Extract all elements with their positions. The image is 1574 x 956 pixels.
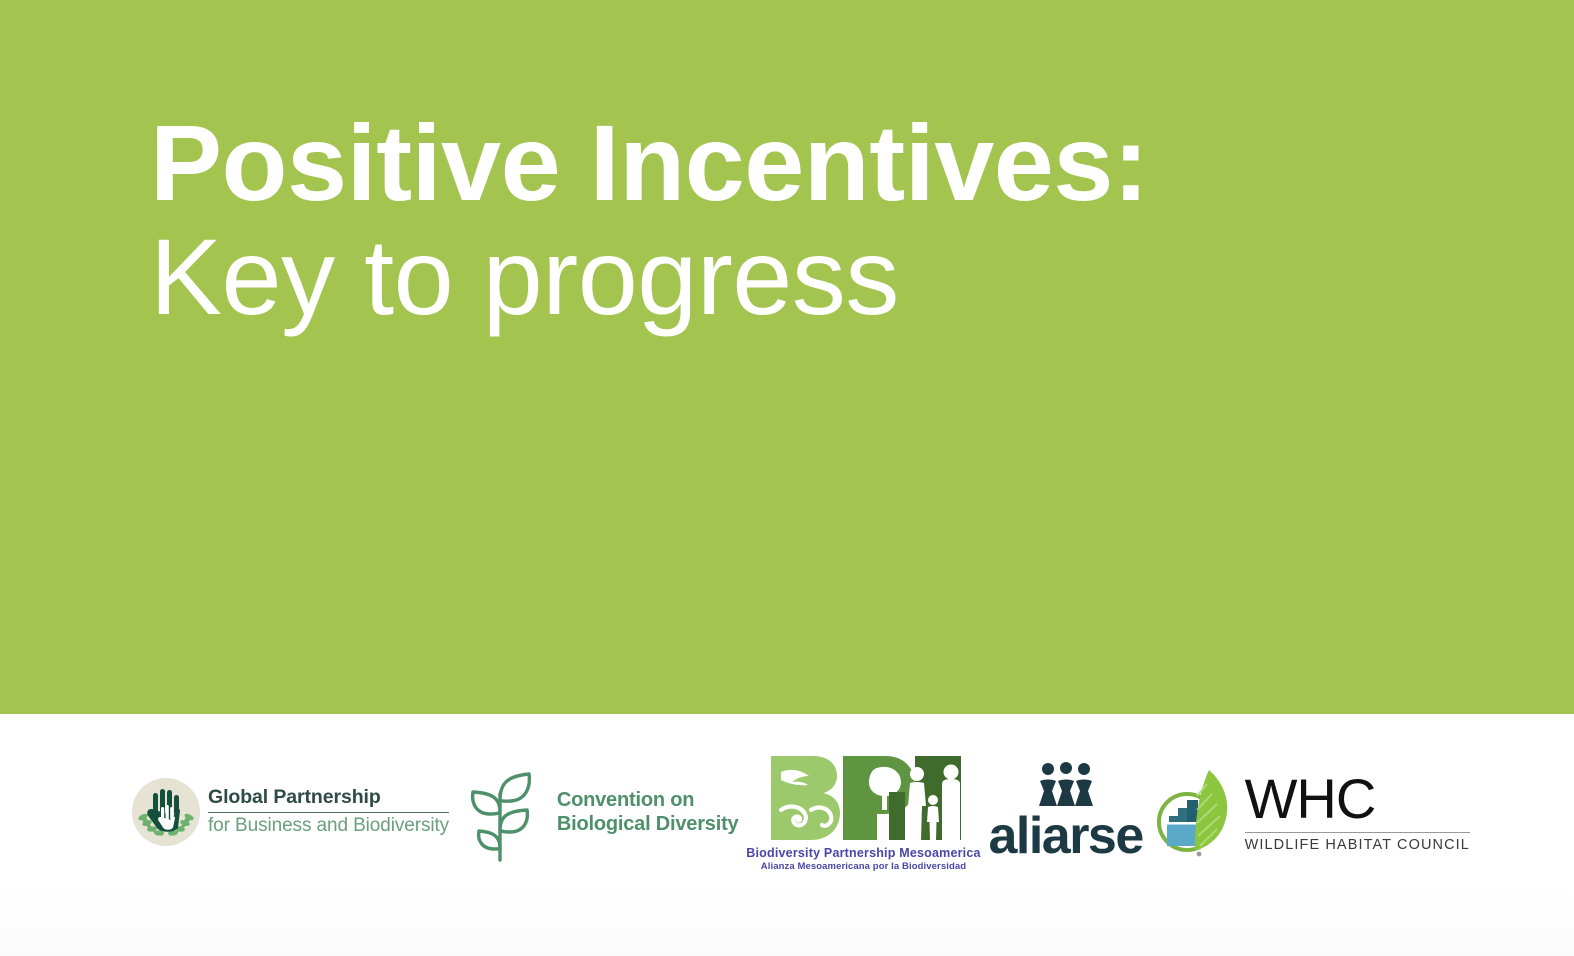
logo-gpbb-line-2: for Business and Biodiversity	[208, 816, 449, 837]
logo-cbd-line-2: Biological Diversity	[557, 812, 739, 836]
partner-logo-row: Global Partnership for Business and Biod…	[130, 742, 1470, 882]
logo-convention-on-biological-diversity: Convention on Biological Diversity	[457, 760, 739, 864]
logo-cbd-line-1: Convention on	[557, 788, 739, 812]
logo-global-partnership-business-biodiversity: Global Partnership for Business and Biod…	[130, 776, 449, 848]
logo-whc-tagline: WILDLIFE HABITAT COUNCIL	[1245, 837, 1470, 853]
logo-whc-divider	[1245, 832, 1470, 834]
leaf-droplet-buildings-icon	[1151, 766, 1235, 858]
logo-aliarse-wordmark: aliarse	[988, 812, 1142, 861]
logo-whc-wordmark: WHC	[1245, 771, 1470, 827]
logo-aliarse: aliarse	[988, 762, 1142, 861]
three-people-icon	[1034, 762, 1098, 810]
logo-cbd-text: Convention on Biological Diversity	[557, 788, 739, 837]
logo-bpm-line-2: Alianza Mesoamericana por la Biodiversid…	[761, 861, 966, 872]
slide-title-block: Positive Incentives: Key to progress	[150, 104, 1450, 338]
logo-biodiversity-partnership-mesoamerica: Biodiversity Partnership Mesoamerica Ali…	[746, 752, 980, 872]
logo-gpbb-line-1: Global Partnership	[208, 787, 449, 808]
slide-title-line-2: Key to progress	[150, 217, 1450, 338]
presentation-slide: Positive Incentives: Key to progress	[0, 0, 1574, 956]
logo-whc-text: WHC WILDLIFE HABITAT COUNCIL	[1245, 771, 1470, 854]
logo-gpbb-divider	[208, 812, 449, 814]
slide-title-line-1: Positive Incentives:	[150, 104, 1450, 223]
logo-global-partnership-text: Global Partnership for Business and Biod…	[208, 787, 449, 836]
leaf-plant-outline-icon	[457, 760, 543, 864]
logo-wildlife-habitat-council: WHC WILDLIFE HABITAT COUNCIL	[1151, 766, 1470, 858]
hand-laurel-circle-icon	[130, 776, 202, 848]
bpm-monogram-icon	[765, 752, 961, 844]
logo-bpm-line-1: Biodiversity Partnership Mesoamerica	[746, 846, 980, 860]
slide-hero-band: Positive Incentives: Key to progress	[0, 0, 1574, 714]
slide-logo-bar: Global Partnership for Business and Biod…	[0, 714, 1574, 956]
